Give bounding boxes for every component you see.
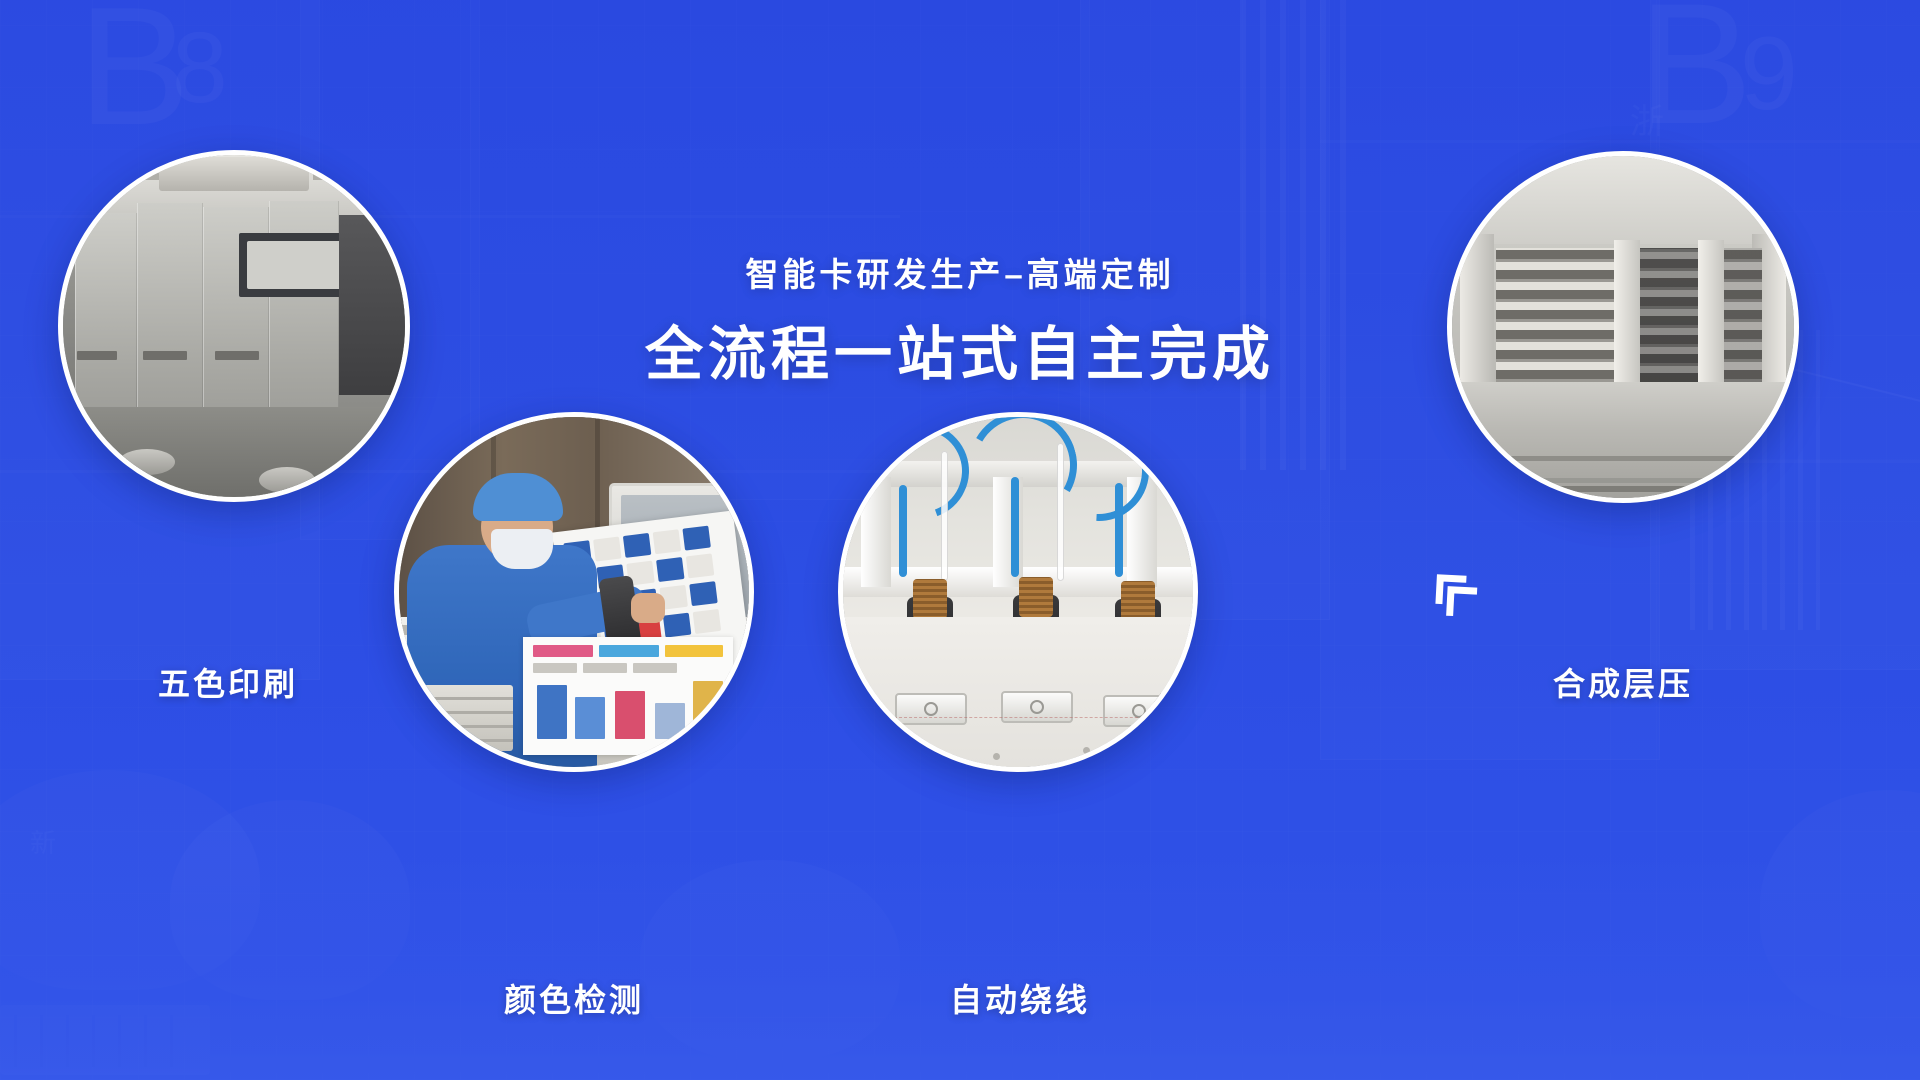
process-step-1-image xyxy=(58,150,410,502)
banner-stage: B 8 B 9 浙 新 智能卡研发生产–高端定制 全流程一站式自主完成 xyxy=(0,0,1920,1080)
process-step-2-image xyxy=(394,412,754,772)
process-step-1-label: 五色印刷 xyxy=(0,659,458,705)
printing-press-photo xyxy=(63,155,405,497)
coil-winding-photo xyxy=(843,417,1193,767)
process-step-4-label: 合成层压 xyxy=(1393,659,1853,705)
process-step-3-image xyxy=(838,412,1198,772)
process-step-2-label: 颜色检测 xyxy=(344,975,804,1021)
process-step-3-label: 自动绕线 xyxy=(790,975,1250,1021)
color-inspection-photo xyxy=(399,417,749,767)
process-step-4-image xyxy=(1447,151,1799,503)
lamination-press-photo xyxy=(1452,156,1794,498)
connector-3-double-chevron-up-right-icon xyxy=(1408,552,1480,624)
